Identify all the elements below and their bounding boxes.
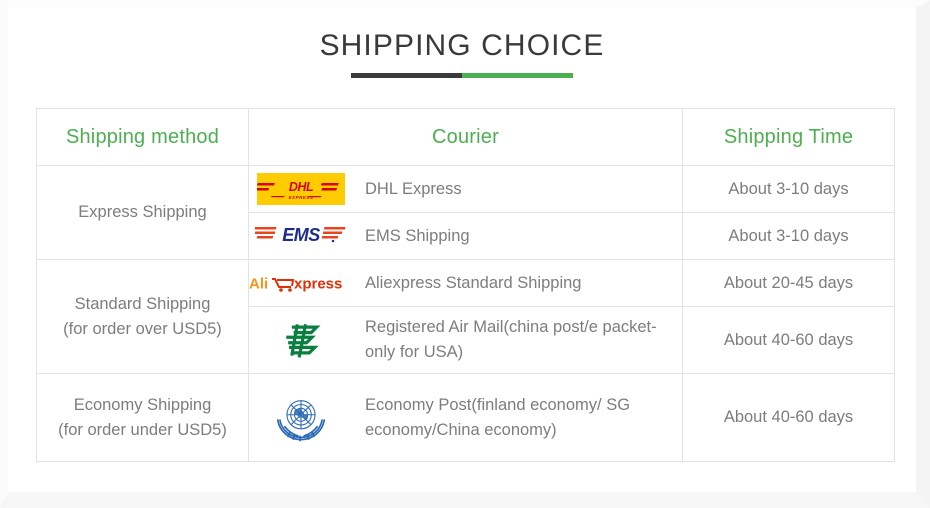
shipping-time-cell: About 3-10 days <box>683 213 895 260</box>
divider-dark-half <box>351 73 462 78</box>
method-sublabel: (for order under USD5) <box>37 418 248 443</box>
ems-logo: EMS <box>249 221 353 251</box>
courier-cell-ems: EMS EMS Shipping <box>249 213 683 260</box>
united-nations-logo <box>249 391 353 445</box>
courier-name: DHL Express <box>353 177 462 202</box>
method-label: Express Shipping <box>37 200 248 225</box>
courier-name: EMS Shipping <box>353 224 470 249</box>
table-row: Economy Shipping (for order under USD5) <box>37 374 895 462</box>
courier-cell-economy-post: Economy Post(finland economy/ SG economy… <box>249 374 683 462</box>
svg-text:EXPRESS: EXPRESS <box>289 195 314 200</box>
method-sublabel: (for order over USD5) <box>37 317 248 342</box>
courier-cell-china-post: Registered Air Mail(china post/e packet-… <box>249 307 683 374</box>
table-header: Shipping method Courier Shipping Time <box>37 109 895 166</box>
column-header-courier: Courier <box>249 109 683 166</box>
courier-name: Registered Air Mail(china post/e packet-… <box>353 315 682 365</box>
shipping-table: Shipping method Courier Shipping Time Ex… <box>36 108 895 462</box>
svg-text:EMS: EMS <box>282 225 320 245</box>
shipping-time-cell: About 20-45 days <box>683 260 895 307</box>
title-divider <box>351 73 573 78</box>
aliexpress-logo: Ali xpress <box>249 272 353 294</box>
svg-text:Ali: Ali <box>249 276 268 293</box>
table-header-row: Shipping method Courier Shipping Time <box>37 109 895 166</box>
column-header-shipping-method: Shipping method <box>37 109 249 166</box>
courier-name: Economy Post(finland economy/ SG economy… <box>353 393 682 443</box>
shipping-method-cell-express: Express Shipping <box>37 166 249 260</box>
method-label: Economy Shipping <box>37 393 248 418</box>
page-frame: SHIPPING CHOICE Shipping method Courier … <box>0 0 930 508</box>
courier-name: Aliexpress Standard Shipping <box>353 271 581 296</box>
shipping-table-wrapper: Shipping method Courier Shipping Time Ex… <box>36 108 894 462</box>
page-header: SHIPPING CHOICE <box>8 28 916 78</box>
shipping-time-cell: About 40-60 days <box>683 307 895 374</box>
column-header-shipping-time: Shipping Time <box>683 109 895 166</box>
shipping-method-cell-standard: Standard Shipping (for order over USD5) <box>37 260 249 374</box>
shipping-time-cell: About 40-60 days <box>683 374 895 462</box>
svg-text:xpress: xpress <box>294 276 342 293</box>
china-post-logo <box>249 317 353 363</box>
page-inner: SHIPPING CHOICE Shipping method Courier … <box>8 8 916 492</box>
dhl-logo: DHL EXPRESS <box>249 173 353 205</box>
shipping-method-cell-economy: Economy Shipping (for order under USD5) <box>37 374 249 462</box>
courier-cell-aliexpress: Ali xpress Aliexpr <box>249 260 683 307</box>
courier-cell-dhl: DHL EXPRESS DHL Express <box>249 166 683 213</box>
table-row: Express Shipping <box>37 166 895 213</box>
svg-text:DHL: DHL <box>289 180 313 194</box>
method-label: Standard Shipping <box>37 292 248 317</box>
table-row: Standard Shipping (for order over USD5) … <box>37 260 895 307</box>
shipping-time-cell: About 3-10 days <box>683 166 895 213</box>
page-title: SHIPPING CHOICE <box>8 28 916 64</box>
table-body: Express Shipping <box>37 166 895 462</box>
divider-green-half <box>462 73 573 78</box>
